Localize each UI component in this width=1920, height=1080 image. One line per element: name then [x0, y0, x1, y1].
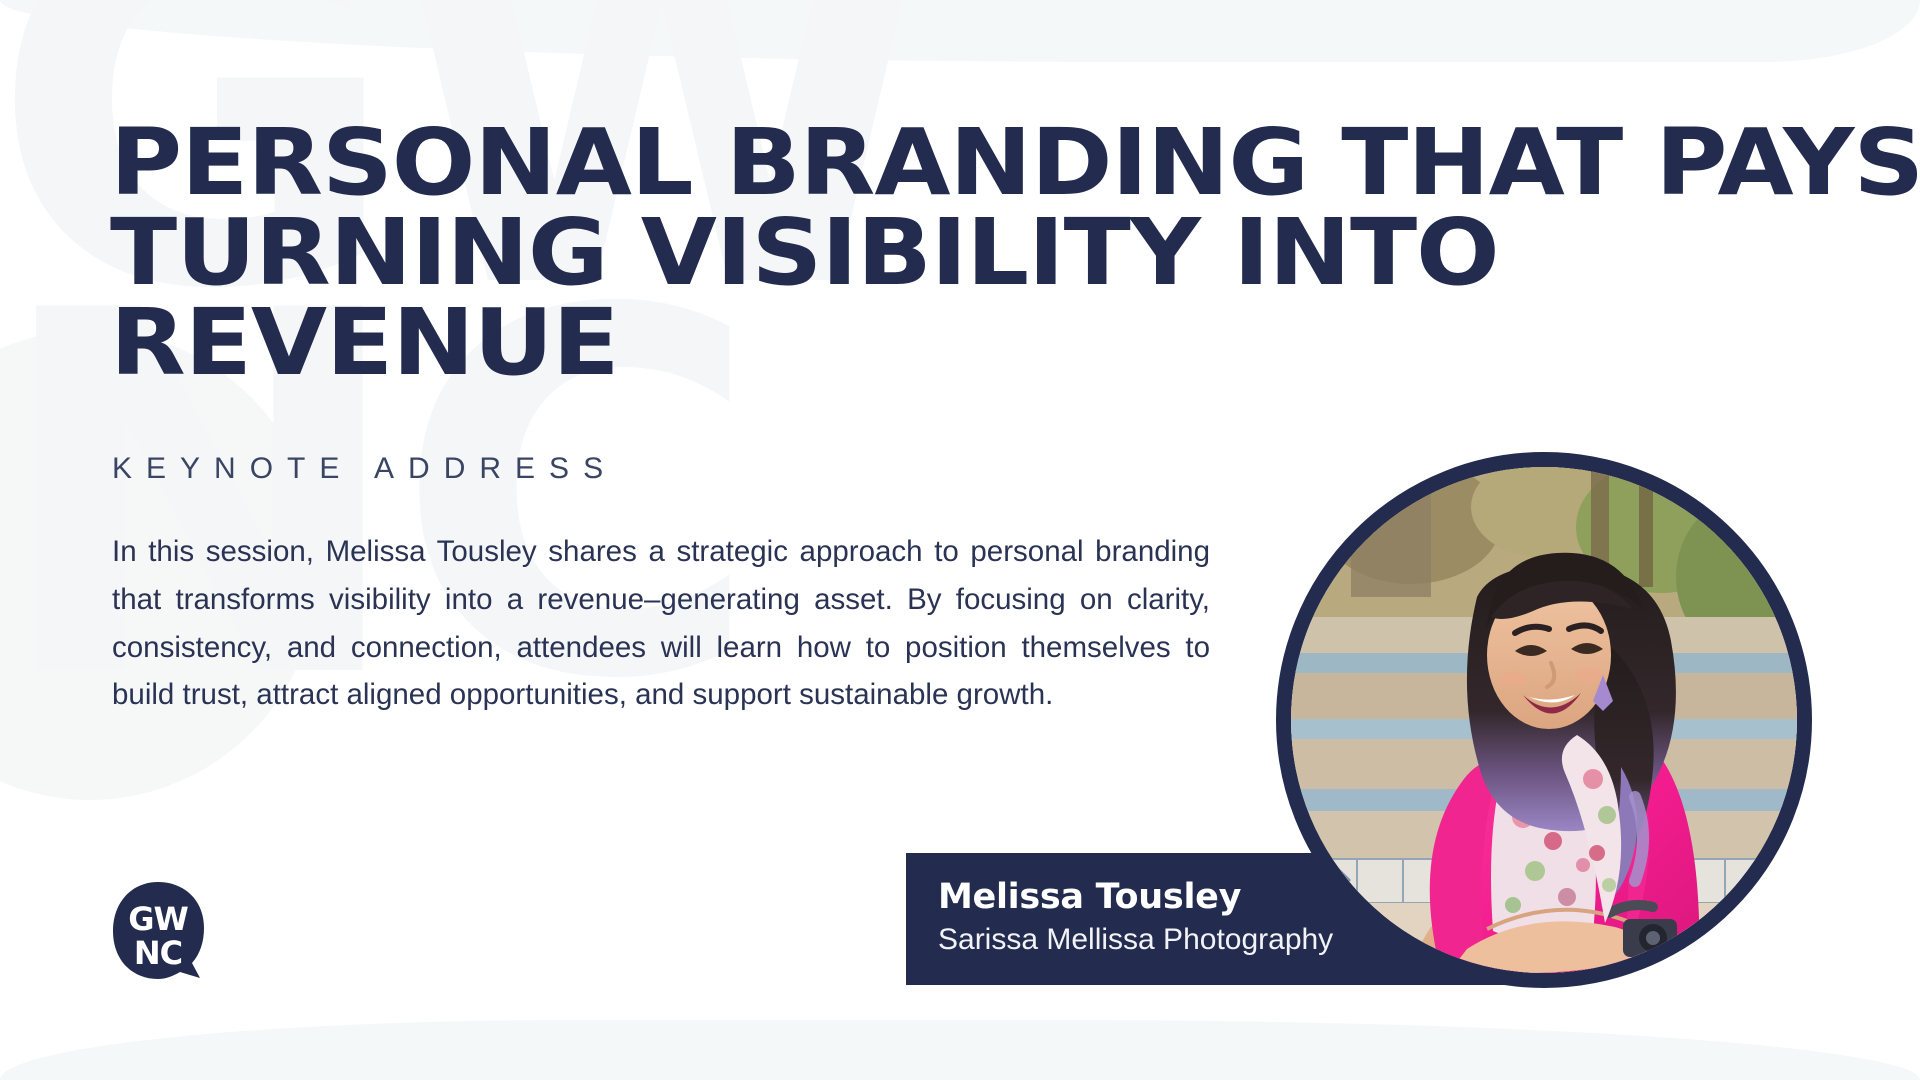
speaker-name: Melissa Tousley [938, 877, 1333, 918]
gwnc-logo[interactable]: GW NC [110, 880, 206, 984]
portrait-illustration [1291, 467, 1797, 973]
gwnc-logo-icon: GW NC [110, 880, 206, 984]
speaker-company: Sarissa Mellissa Photography [938, 920, 1333, 959]
speaker-nameplate-text: Melissa Tousley Sarissa Mellissa Photogr… [938, 877, 1333, 959]
keynote-session-slide: GW NC Personal Branding That Pays: Turni… [0, 0, 1920, 1080]
gwnc-logo-line1: GW [128, 900, 188, 938]
speaker-portrait [1276, 452, 1812, 988]
session-type-label: Keynote Address [112, 452, 617, 486]
session-title: Personal Branding That Pays: Turning Vis… [110, 118, 1920, 388]
gwnc-logo-line2: NC [134, 934, 182, 972]
session-description: In this session, Melissa Tousley shares … [112, 528, 1210, 719]
portrait-photo [1291, 467, 1797, 973]
